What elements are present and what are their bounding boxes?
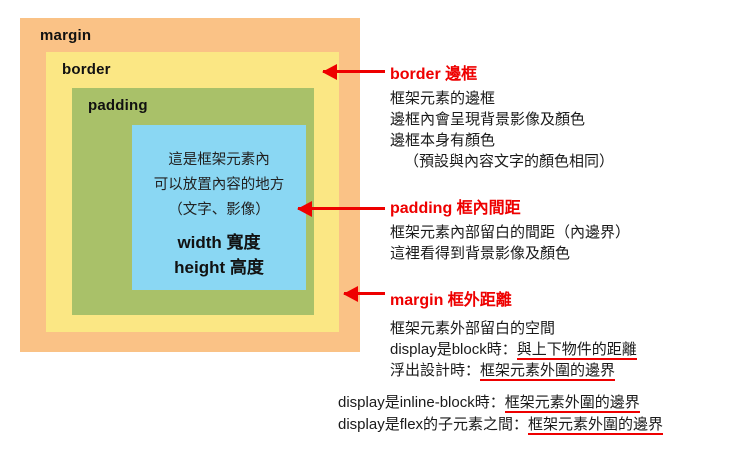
annotation-margin: margin 框外距離 框架元素外部留白的空間 display是block時：與… xyxy=(390,286,637,381)
padding-arrow-icon xyxy=(298,207,385,210)
extra-note-line-1-prefix: display是inline-block時： xyxy=(338,394,505,411)
annotation-border: border 邊框 框架元素的邊框 邊框內會呈現背景影像及顏色 邊框本身有顏色 … xyxy=(390,60,614,172)
annotation-border-line-1: 框架元素的邊框 xyxy=(390,88,614,109)
annotation-border-line-2: 邊框內會呈現背景影像及顏色 xyxy=(390,109,614,130)
margin-arrow-icon xyxy=(344,292,385,295)
content-box-dimensions: width 寬度 height 高度 xyxy=(132,230,306,280)
annotation-border-line-3: 邊框本身有顏色 xyxy=(390,130,614,151)
box-model-diagram: margin border padding 這是框架元素內 可以放置內容的地方 … xyxy=(20,18,360,352)
height-label: height 高度 xyxy=(132,255,306,280)
annotation-padding: padding 框內間距 框架元素內部留白的間距（內邊界） 這裡看得到背景影像及… xyxy=(390,194,630,264)
extra-note-line-1: display是inline-block時：框架元素外圍的邊界 xyxy=(338,392,663,414)
padding-box-label: padding xyxy=(88,97,148,114)
extra-note-line-2-prefix: display是flex的子元素之間： xyxy=(338,416,528,433)
border-arrow-icon xyxy=(323,70,385,73)
annotation-margin-line-1: 框架元素外部留白的空間 xyxy=(390,318,637,339)
extra-note-line-2: display是flex的子元素之間：框架元素外圍的邊界 xyxy=(338,414,663,436)
annotation-padding-title: padding 框內間距 xyxy=(390,194,630,218)
annotation-border-body: 框架元素的邊框 邊框內會呈現背景影像及顏色 邊框本身有顏色 （預設與內容文字的顏… xyxy=(390,88,614,172)
annotation-margin-line-3-prefix: 浮出設計時： xyxy=(390,362,480,379)
annotation-margin-line-2: display是block時：與上下物件的距離 xyxy=(390,339,637,360)
content-line-1: 這是框架元素內 xyxy=(132,148,306,173)
annotation-padding-line-2: 這裡看得到背景影像及顏色 xyxy=(390,243,630,264)
annotation-padding-body: 框架元素內部留白的間距（內邊界） 這裡看得到背景影像及顏色 xyxy=(390,222,630,264)
content-line-2: 可以放置內容的地方 xyxy=(132,173,306,198)
margin-box-label: margin xyxy=(40,27,91,44)
annotation-margin-line-3: 浮出設計時：框架元素外圍的邊界 xyxy=(390,360,637,381)
border-box-label: border xyxy=(62,61,111,78)
annotation-margin-body: 框架元素外部留白的空間 display是block時：與上下物件的距離 浮出設計… xyxy=(390,318,637,381)
annotation-border-line-4: （預設與內容文字的顏色相同） xyxy=(390,151,614,172)
width-label: width 寬度 xyxy=(132,230,306,255)
content-box-description: 這是框架元素內 可以放置內容的地方 （文字、影像） xyxy=(132,148,306,223)
extra-note-line-1-emphasis: 框架元素外圍的邊界 xyxy=(505,394,640,413)
extra-margin-notes: display是inline-block時：框架元素外圍的邊界 display是… xyxy=(338,392,663,436)
annotation-padding-line-1: 框架元素內部留白的間距（內邊界） xyxy=(390,222,630,243)
annotation-margin-line-3-emphasis: 框架元素外圍的邊界 xyxy=(480,362,615,381)
annotation-margin-line-2-emphasis: 與上下物件的距離 xyxy=(517,341,637,360)
annotation-margin-title: margin 框外距離 xyxy=(390,286,637,310)
annotation-border-title: border 邊框 xyxy=(390,60,614,84)
annotation-margin-line-2-prefix: display是block時： xyxy=(390,341,517,358)
content-line-3: （文字、影像） xyxy=(132,198,306,223)
extra-note-line-2-emphasis: 框架元素外圍的邊界 xyxy=(528,416,663,435)
